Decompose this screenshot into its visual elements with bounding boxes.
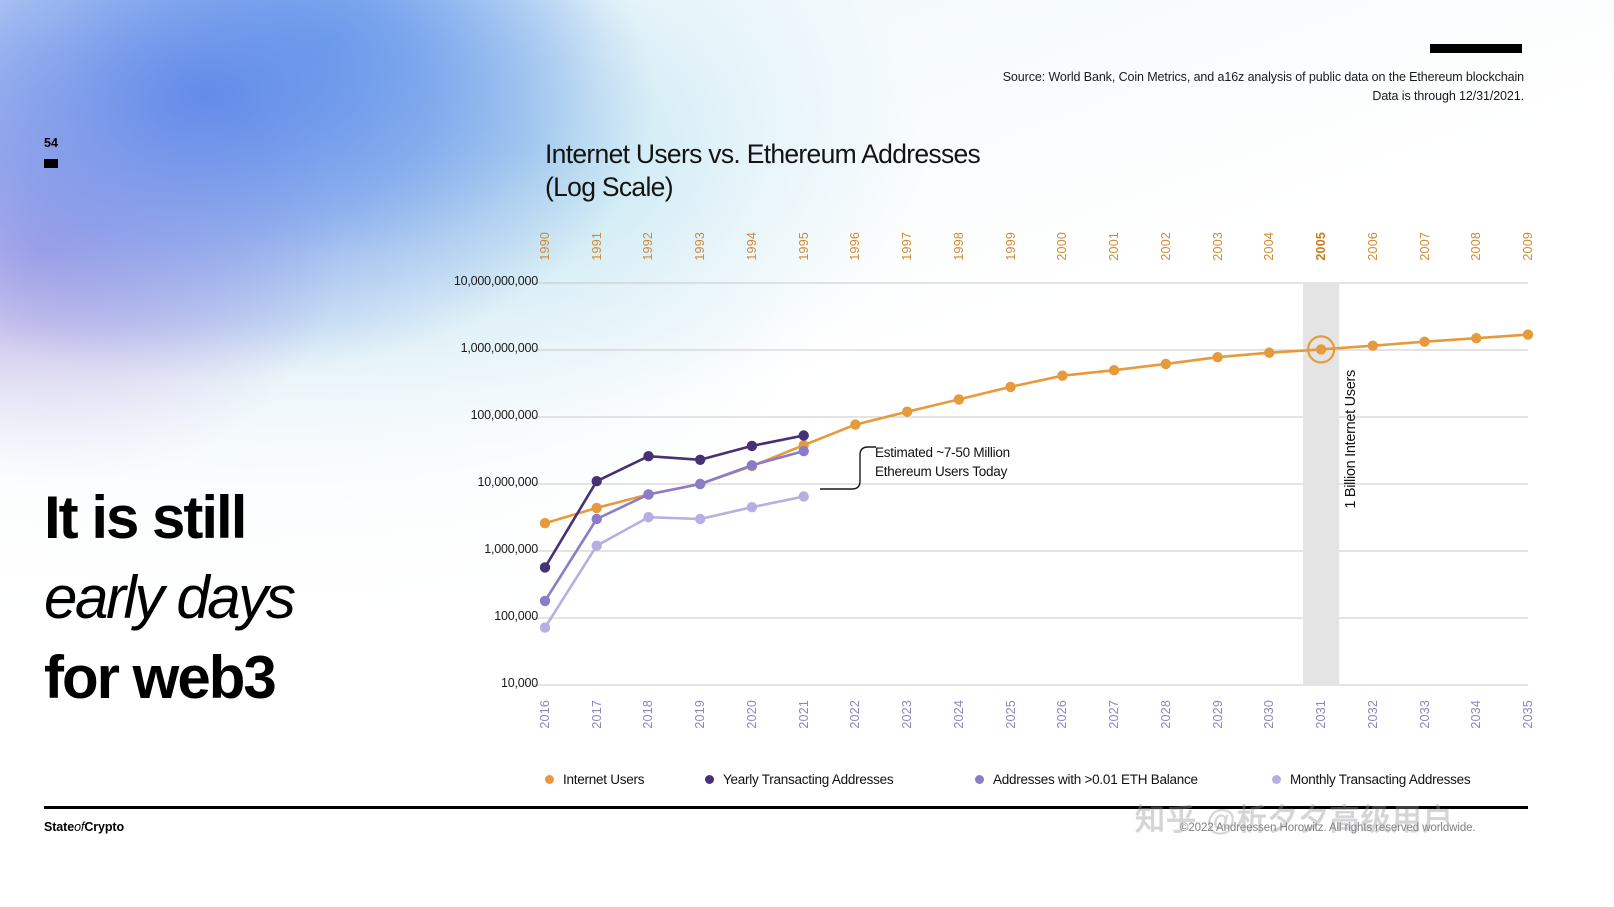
x-axis-bottom-label-2034: 2034 (1469, 700, 1483, 729)
data-point (1471, 333, 1481, 343)
data-point (1109, 365, 1119, 375)
x-axis-top-label-2007: 2007 (1418, 232, 1432, 261)
footer-brand-crypto: Crypto (84, 820, 124, 834)
data-point (1419, 337, 1429, 347)
data-point (643, 489, 653, 499)
x-axis-bottom-label-2024: 2024 (952, 700, 966, 729)
footer-brand-of: of (74, 820, 84, 834)
x-axis-top-label-2002: 2002 (1159, 232, 1173, 261)
billion-users-marker (1308, 336, 1334, 362)
callout-line-2: Ethereum Users Today (875, 462, 1010, 481)
data-point (695, 514, 705, 524)
legend-item[interactable]: Internet Users (545, 772, 644, 787)
data-point (799, 440, 809, 450)
x-axis-bottom-label-2028: 2028 (1159, 700, 1173, 729)
legend-label: Addresses with >0.01 ETH Balance (993, 772, 1198, 787)
background-gradient (0, 0, 1614, 907)
data-point (695, 455, 705, 465)
headline-line-2: early days (44, 558, 293, 638)
y-axis-tick: 10,000 (501, 676, 538, 690)
legend-item[interactable]: Yearly Transacting Addresses (705, 772, 893, 787)
data-point (592, 503, 602, 513)
header-rule (1430, 44, 1522, 53)
grid-lines (533, 283, 1528, 685)
x-axis-top-label-1992: 1992 (641, 232, 655, 261)
data-point (1212, 352, 1222, 362)
data-point (747, 461, 757, 471)
x-axis-top-label-1998: 1998 (952, 232, 966, 261)
background-veil (0, 0, 1614, 907)
series-layer (540, 329, 1533, 632)
data-point (643, 489, 653, 499)
y-axis-tick: 100,000 (494, 609, 538, 623)
data-point (1161, 359, 1171, 369)
data-point (540, 596, 550, 606)
x-axis-top-label-1996: 1996 (848, 232, 862, 261)
data-point (643, 451, 653, 461)
x-axis-bottom-label-2033: 2033 (1418, 700, 1432, 729)
legend-label: Yearly Transacting Addresses (723, 772, 893, 787)
y-axis-tick: 100,000,000 (471, 408, 538, 422)
chart-title-line-2: (Log Scale) (545, 171, 980, 204)
data-point (1316, 344, 1326, 354)
data-point (850, 419, 860, 429)
data-point (540, 562, 550, 572)
x-axis-bottom-label-2031: 2031 (1314, 700, 1328, 729)
legend-color-dot (975, 775, 984, 784)
legend-color-dot (1272, 775, 1281, 784)
source-line-1: Source: World Bank, Coin Metrics, and a1… (1003, 68, 1524, 87)
y-axis-tick: 10,000,000,000 (454, 274, 538, 288)
legend-item[interactable]: Addresses with >0.01 ETH Balance (975, 772, 1198, 787)
callout-line-1: Estimated ~7-50 Million (875, 443, 1010, 462)
x-axis-top-label-2004: 2004 (1262, 232, 1276, 261)
page-title: It is still early days for web3 (44, 478, 293, 717)
data-point (540, 518, 550, 528)
page-marker (44, 159, 58, 168)
x-axis-bottom-label-2017: 2017 (590, 700, 604, 729)
y-axis-tick: 1,000,000 (484, 542, 538, 556)
x-axis-top-label-2006: 2006 (1366, 232, 1380, 261)
chart-title: Internet Users vs. Ethereum Addresses (L… (545, 138, 980, 204)
x-axis-top-label-2000: 2000 (1055, 232, 1069, 261)
data-point (799, 491, 809, 501)
x-axis-bottom-label-2027: 2027 (1107, 700, 1121, 729)
legend-label: Internet Users (563, 772, 644, 787)
series-line (545, 335, 1528, 524)
x-axis-top-label-1997: 1997 (900, 232, 914, 261)
x-axis-top-label-2008: 2008 (1469, 232, 1483, 261)
legend-color-dot (705, 775, 714, 784)
x-axis-bottom-label-2018: 2018 (641, 700, 655, 729)
x-axis-top-label-2003: 2003 (1211, 232, 1225, 261)
footer-rule (44, 806, 1528, 809)
x-axis-bottom-label-2029: 2029 (1211, 700, 1225, 729)
series-line (545, 497, 804, 628)
data-point (1005, 382, 1015, 392)
data-point (695, 479, 705, 489)
series-line (545, 451, 804, 601)
x-axis-bottom-label-2023: 2023 (900, 700, 914, 729)
legend-item[interactable]: Monthly Transacting Addresses (1272, 772, 1470, 787)
highlight-band (1303, 283, 1339, 685)
source-attribution: Source: World Bank, Coin Metrics, and a1… (1003, 68, 1524, 107)
series-line (545, 436, 804, 568)
data-point (1264, 348, 1274, 358)
legend-label: Monthly Transacting Addresses (1290, 772, 1470, 787)
x-axis-bottom-label-2025: 2025 (1004, 700, 1018, 729)
data-point (540, 622, 550, 632)
data-point (747, 460, 757, 470)
page-number: 54 (44, 136, 58, 150)
x-axis-bottom-label-2026: 2026 (1055, 700, 1069, 729)
data-point (799, 430, 809, 440)
x-axis-top-label-2009: 2009 (1521, 232, 1535, 261)
callout-bracket (820, 447, 876, 489)
x-axis-bottom-label-2035: 2035 (1521, 700, 1535, 729)
legend-color-dot (545, 775, 554, 784)
data-point (592, 476, 602, 486)
x-axis-bottom-label-2032: 2032 (1366, 700, 1380, 729)
data-point (1368, 341, 1378, 351)
headline-line-3: for web3 (44, 638, 293, 718)
x-axis-top-label-1991: 1991 (590, 232, 604, 261)
billion-users-label: 1 Billion Internet Users (1343, 370, 1359, 509)
data-point (1057, 371, 1067, 381)
y-axis-tick: 1,000,000,000 (461, 341, 538, 355)
x-axis-bottom-label-2030: 2030 (1262, 700, 1276, 729)
y-axis-tick: 10,000,000 (477, 475, 538, 489)
footer-brand-state: State (44, 820, 74, 834)
chart-title-line-1: Internet Users vs. Ethereum Addresses (545, 138, 980, 171)
data-point (592, 541, 602, 551)
footer-copyright: ©2022 Andreessen Horowitz. All rights re… (1180, 822, 1476, 834)
x-axis-top-label-1990: 1990 (538, 232, 552, 261)
data-point (1523, 329, 1533, 339)
headline-line-1: It is still (44, 478, 293, 558)
x-axis-bottom-label-2016: 2016 (538, 700, 552, 729)
data-point (747, 502, 757, 512)
data-point (643, 512, 653, 522)
x-axis-top-label-2001: 2001 (1107, 232, 1121, 261)
x-axis-bottom-label-2022: 2022 (848, 700, 862, 729)
ethereum-users-callout: Estimated ~7-50 Million Ethereum Users T… (875, 443, 1010, 481)
data-point (592, 514, 602, 524)
data-point (695, 479, 705, 489)
x-axis-bottom-label-2019: 2019 (693, 700, 707, 729)
page-number-block: 54 (44, 136, 58, 168)
x-axis-top-label-1994: 1994 (745, 232, 759, 261)
data-point (902, 407, 912, 417)
x-axis-bottom-label-2021: 2021 (797, 700, 811, 729)
source-line-2: Data is through 12/31/2021. (1003, 87, 1524, 106)
data-point (747, 441, 757, 451)
x-axis-top-label-1993: 1993 (693, 232, 707, 261)
data-point (799, 446, 809, 456)
x-axis-top-label-1999: 1999 (1004, 232, 1018, 261)
x-axis-top-label-2005: 2005 (1314, 232, 1328, 261)
x-axis-bottom-label-2020: 2020 (745, 700, 759, 729)
chart-plot (0, 0, 1614, 907)
data-point (954, 394, 964, 404)
x-axis-top-label-1995: 1995 (797, 232, 811, 261)
footer-brand: StateofCrypto (44, 820, 124, 834)
